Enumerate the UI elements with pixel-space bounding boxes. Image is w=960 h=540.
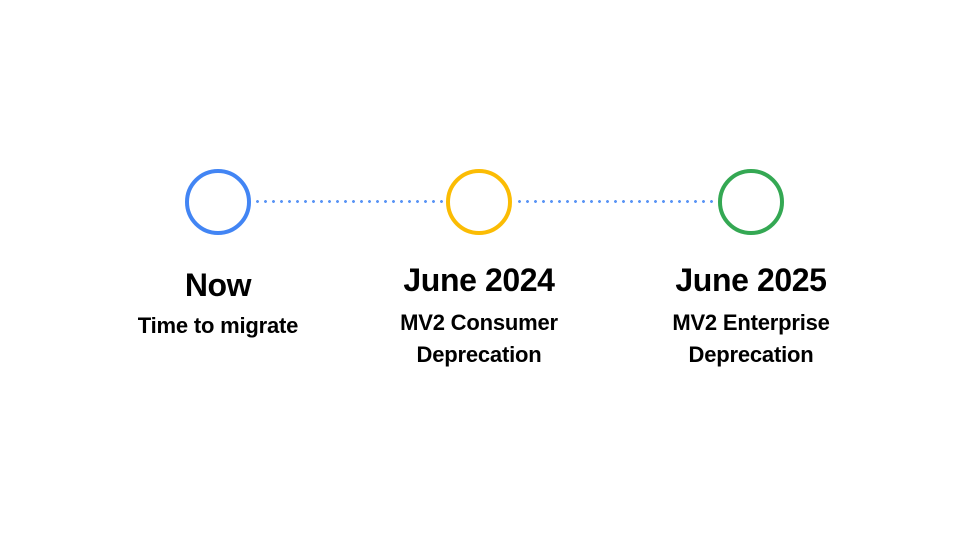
timeline-connector-june2024-june2025: [518, 200, 716, 203]
timeline-milestone-june2025-subtitle-line-2: Deprecation: [601, 339, 901, 371]
timeline-connector-now-june2024: [256, 200, 446, 203]
timeline-milestone-june2025-subtitle: MV2 Enterprise Deprecation: [601, 307, 901, 371]
timeline-milestone-now-text: Now Time to migrate: [68, 266, 368, 342]
timeline-milestone-june2025-text: June 2025 MV2 Enterprise Deprecation: [601, 261, 901, 371]
timeline-milestone-june2024-text: June 2024 MV2 Consumer Deprecation: [329, 261, 629, 371]
circle-outline-icon-now: [185, 169, 251, 235]
timeline-milestone-june2025-subtitle-line-1: MV2 Enterprise: [601, 307, 901, 339]
circle-outline-icon-june2025: [718, 169, 784, 235]
timeline-milestone-june2024-heading: June 2024: [329, 261, 629, 299]
timeline-milestone-june2024-subtitle-line-2: Deprecation: [329, 339, 629, 371]
timeline-milestone-now-subtitle-line-1: Time to migrate: [68, 310, 368, 342]
timeline-milestone-now-subtitle: Time to migrate: [68, 310, 368, 342]
timeline-figure: Now Time to migrate June 2024 MV2 Consum…: [0, 0, 960, 540]
timeline-milestone-june2024-subtitle: MV2 Consumer Deprecation: [329, 307, 629, 371]
timeline-milestone-june2025-heading: June 2025: [601, 261, 901, 299]
circle-outline-icon-june2024: [446, 169, 512, 235]
timeline-milestone-june2024-subtitle-line-1: MV2 Consumer: [329, 307, 629, 339]
timeline-milestone-now-heading: Now: [68, 266, 368, 304]
